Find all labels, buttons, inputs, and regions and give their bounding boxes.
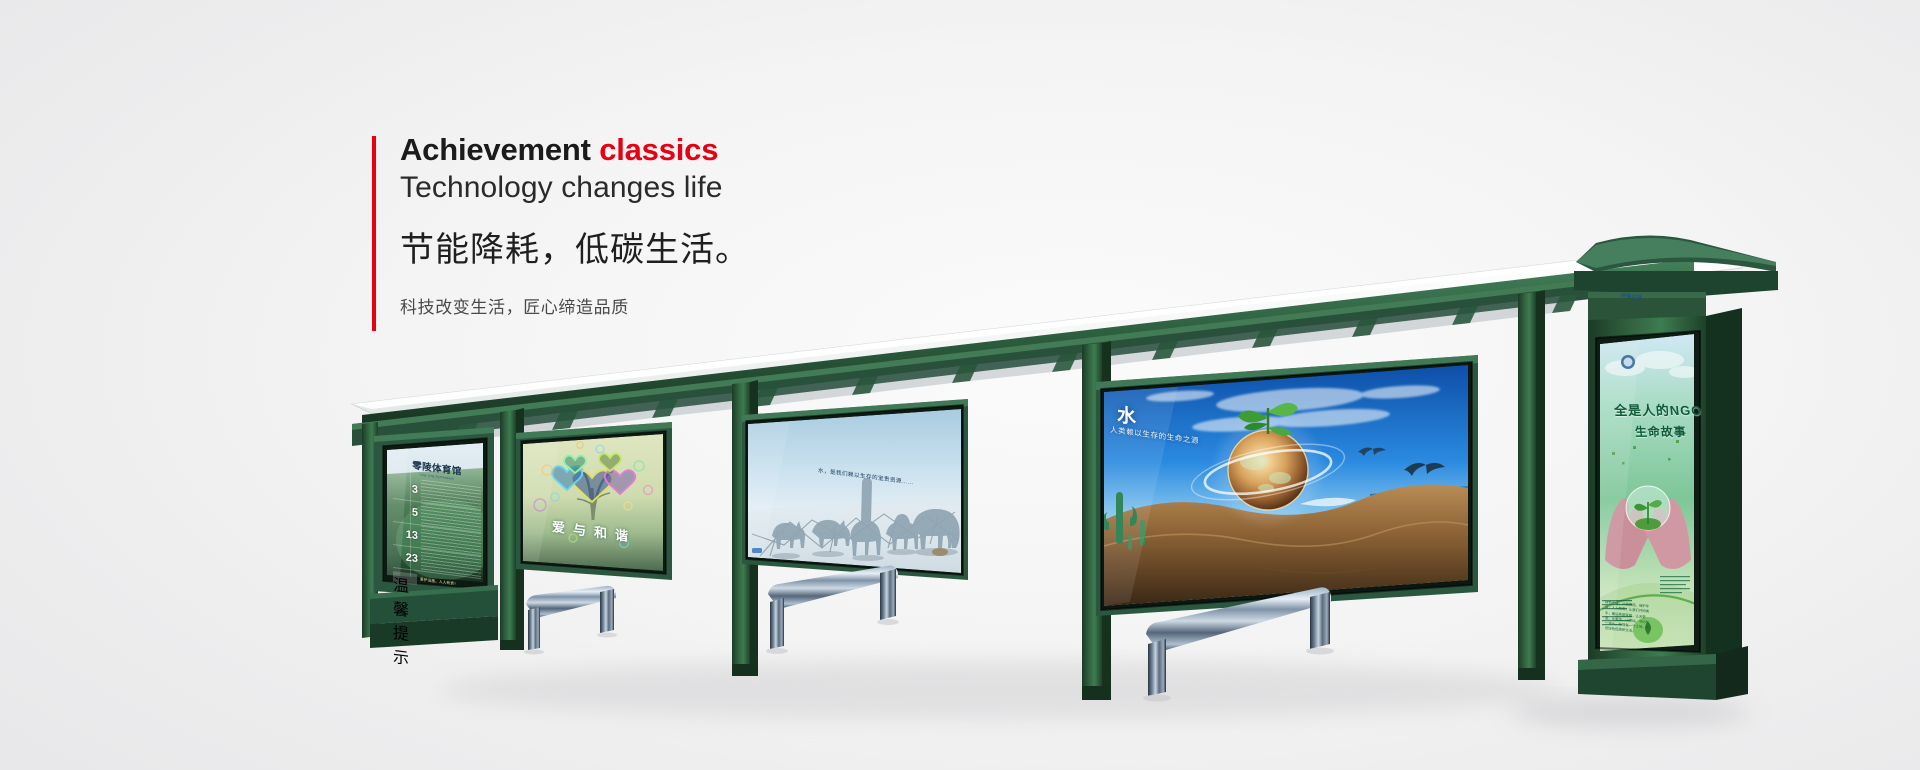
poster-love-harmony <box>523 434 663 571</box>
headline-english-secondary: Technology changes life <box>400 169 1020 207</box>
headline-accent-rule <box>372 136 376 331</box>
headline-main-word: Achievement <box>400 132 591 167</box>
poster-water-animals <box>748 409 961 573</box>
pillar-2 <box>500 410 516 648</box>
ground-shadow <box>440 660 1560 720</box>
headline-tagline: 科技改变生活，匠心缔造品质 <box>400 293 1020 318</box>
poster-route-board <box>387 443 496 582</box>
bus-shelter-illustration <box>0 0 1920 770</box>
lightbox-body-right-face <box>1706 308 1742 680</box>
bench-1 <box>524 586 617 655</box>
headline-block: Achievement classics Technology changes … <box>372 134 1020 318</box>
banner-stage: 零陵体育馆 Ling Ling Gymnasium 3 5 13 23 温馨提示… <box>0 0 1920 770</box>
poster-ngo-green <box>1596 334 1700 660</box>
headline-chinese: 节能降耗，低碳生活。 <box>400 222 1020 271</box>
headline-english-primary: Achievement classics <box>400 134 1020 167</box>
headline-accent-word: classics <box>599 132 718 167</box>
pillar-5 <box>1518 292 1536 678</box>
bench-2 <box>766 566 899 654</box>
poster-water-source <box>1102 365 1468 606</box>
